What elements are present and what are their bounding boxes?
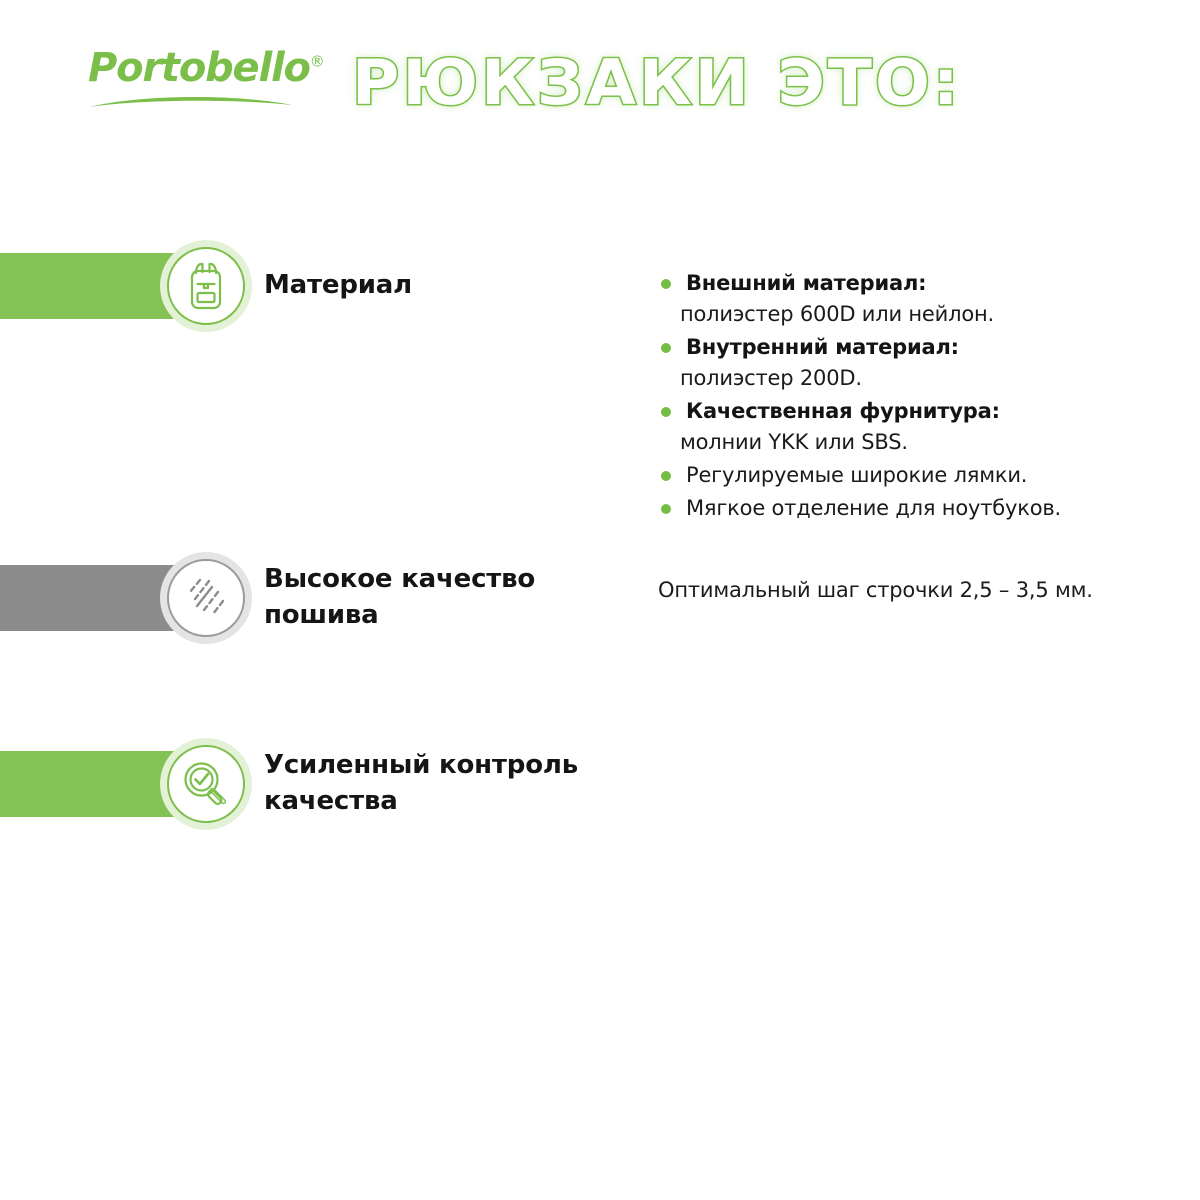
list-item-text: Регулируемые широкие лямки. <box>686 460 1178 491</box>
material-bullet-list: Внешний материал: полиэстер 600D или ней… <box>658 268 1178 526</box>
list-item: Регулируемые широкие лямки. <box>658 460 1178 491</box>
list-item-detail: молнии YKK или SBS. <box>680 427 1178 458</box>
stitching-icon <box>182 574 230 622</box>
registered-trademark-icon: ® <box>310 53 325 71</box>
page-title-text: РЮКЗАКИ ЭТО: <box>352 52 962 114</box>
feature-title: Высокое качество пошива <box>264 561 535 633</box>
feature-badge <box>160 738 252 830</box>
list-item: Внешний материал: полиэстер 600D или ней… <box>658 268 1178 330</box>
brand-logo: Portobello® <box>88 48 298 120</box>
badge-inner-circle <box>167 745 245 823</box>
list-item: Качественная фурнитура: молнии YKK или S… <box>658 396 1178 458</box>
list-item-detail: полиэстер 600D или нейлон. <box>680 299 1178 330</box>
bullet-dot-icon <box>661 471 671 481</box>
badge-inner-circle <box>167 247 245 325</box>
logo-swoosh-icon <box>88 92 293 112</box>
logo-wordmark: Portobello® <box>88 48 298 88</box>
list-item: Внутренний материал: полиэстер 200D. <box>658 332 1178 394</box>
feature-badge <box>160 552 252 644</box>
feature-badge <box>160 240 252 332</box>
feature-title: Усиленный контроль качества <box>264 747 578 819</box>
list-item-lead: Внутренний материал: <box>686 332 1178 363</box>
bullet-dot-icon <box>661 504 671 514</box>
list-item-text: Мягкое отделение для ноутбуков. <box>686 493 1178 524</box>
list-item-lead: Качественная фурнитура: <box>686 396 1178 427</box>
list-item-detail: полиэстер 200D. <box>680 363 1178 394</box>
list-item: Мягкое отделение для ноутбуков. <box>658 493 1178 524</box>
badge-inner-circle <box>167 559 245 637</box>
magnifier-check-icon <box>181 759 231 809</box>
bullet-dot-icon <box>661 407 671 417</box>
bullet-dot-icon <box>661 343 671 353</box>
feature-title: Материал <box>264 267 412 303</box>
list-item-lead: Внешний материал: <box>686 268 1178 299</box>
logo-text: Portobello <box>88 45 310 91</box>
quality-note: Оптимальный шаг строчки 2,5 – 3,5 мм. <box>658 575 1093 605</box>
bullet-dot-icon <box>661 279 671 289</box>
backpack-icon <box>183 261 229 311</box>
page-title: РЮКЗАКИ ЭТО: <box>352 40 938 126</box>
